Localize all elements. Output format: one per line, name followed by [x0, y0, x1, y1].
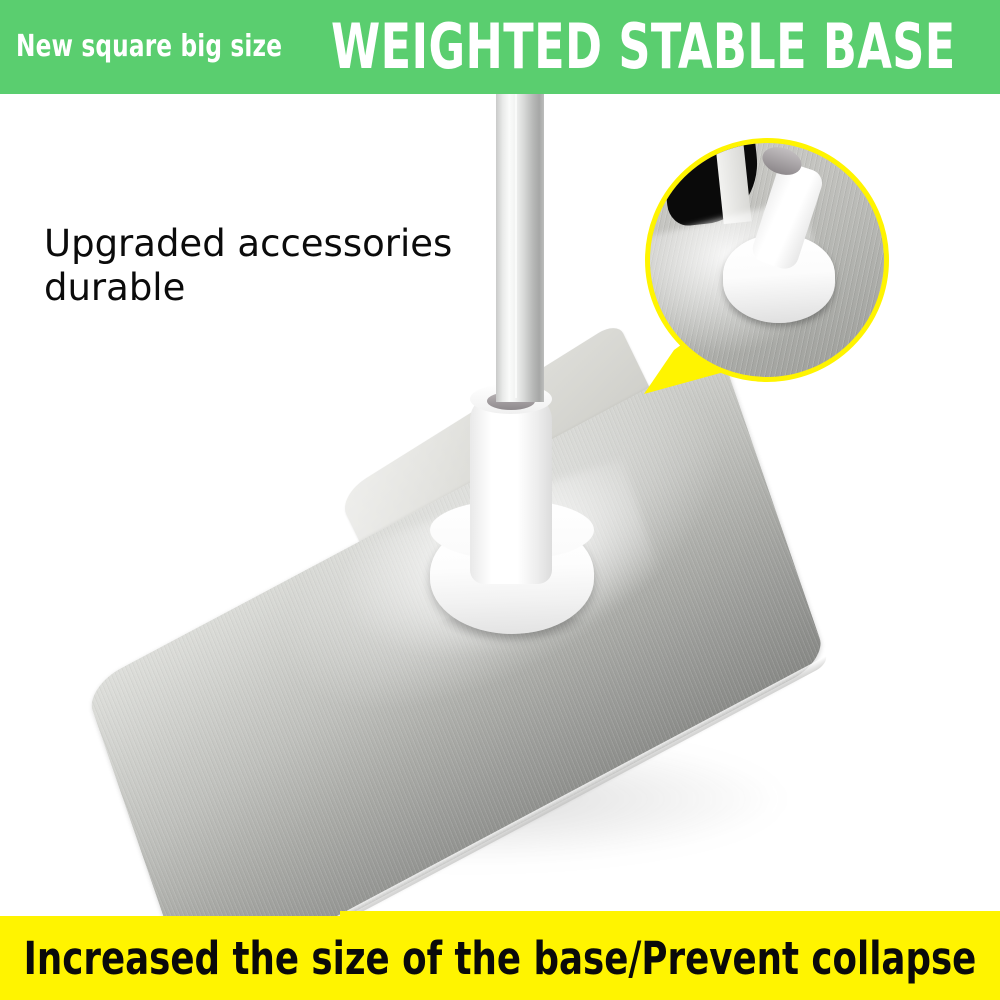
header-title: WEIGHTED STABLE BASE — [331, 16, 956, 78]
header-banner: New square big size WEIGHTED STABLE BASE — [0, 0, 1000, 94]
caption-line-1: Upgraded accessories — [44, 222, 504, 266]
detail-inset-circle — [645, 138, 889, 382]
caption-text: Upgraded accessories durable — [44, 222, 504, 309]
product-marketing-image: New square big size WEIGHTED STABLE BASE… — [0, 0, 1000, 1000]
collar-sleeve — [470, 394, 552, 584]
header-subtitle: New square big size — [16, 32, 282, 62]
support-pole-highlight — [515, 94, 517, 398]
caption-line-2: durable — [44, 266, 504, 310]
footer-caption: Increased the size of the base/Prevent c… — [60, 916, 940, 1000]
